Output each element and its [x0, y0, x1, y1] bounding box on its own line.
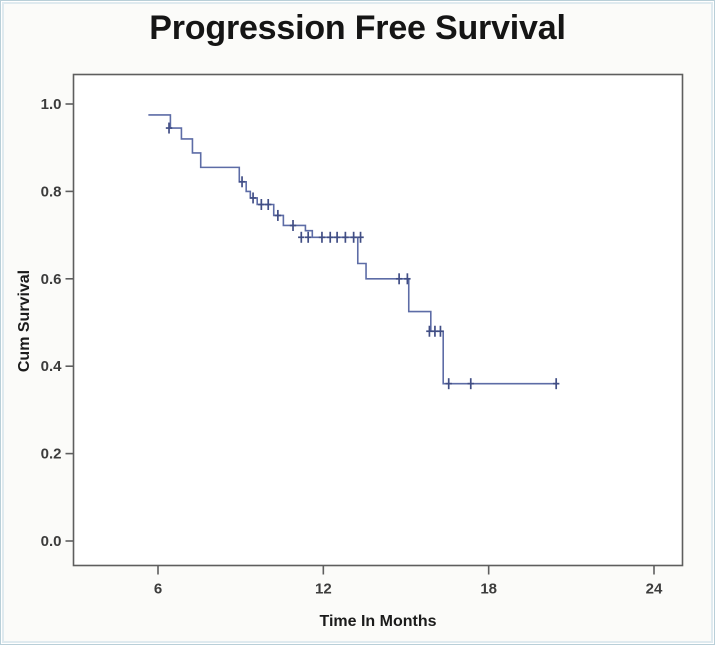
y-axis: 0.00.20.40.60.81.0	[41, 96, 74, 550]
y-axis-tick-label: 0.6	[41, 271, 62, 288]
x-axis-title: Time In Months	[319, 613, 436, 630]
y-axis-tick-label: 0.2	[41, 446, 62, 463]
plot-frame-rect	[74, 75, 683, 566]
survival-plot: 0.00.20.40.60.81.0 6121824 Cum Survival …	[1, 1, 715, 646]
y-axis-tick-label: 1.0	[41, 96, 62, 113]
plot-frame	[74, 75, 683, 566]
x-axis: 6121824	[154, 566, 663, 598]
x-axis-tick-label: 24	[646, 581, 663, 598]
y-axis-tick-label: 0.8	[41, 183, 62, 200]
y-axis-tick-label: 0.4	[41, 358, 63, 375]
y-axis-title: Cum Survival	[16, 270, 33, 372]
x-axis-tick-label: 12	[315, 581, 332, 598]
x-axis-tick-label: 18	[480, 581, 497, 598]
x-axis-tick-label: 6	[154, 581, 162, 598]
y-axis-tick-label: 0.0	[41, 533, 62, 550]
figure-container: Progression Free Survival 0.00.20.40.60.…	[0, 0, 715, 645]
